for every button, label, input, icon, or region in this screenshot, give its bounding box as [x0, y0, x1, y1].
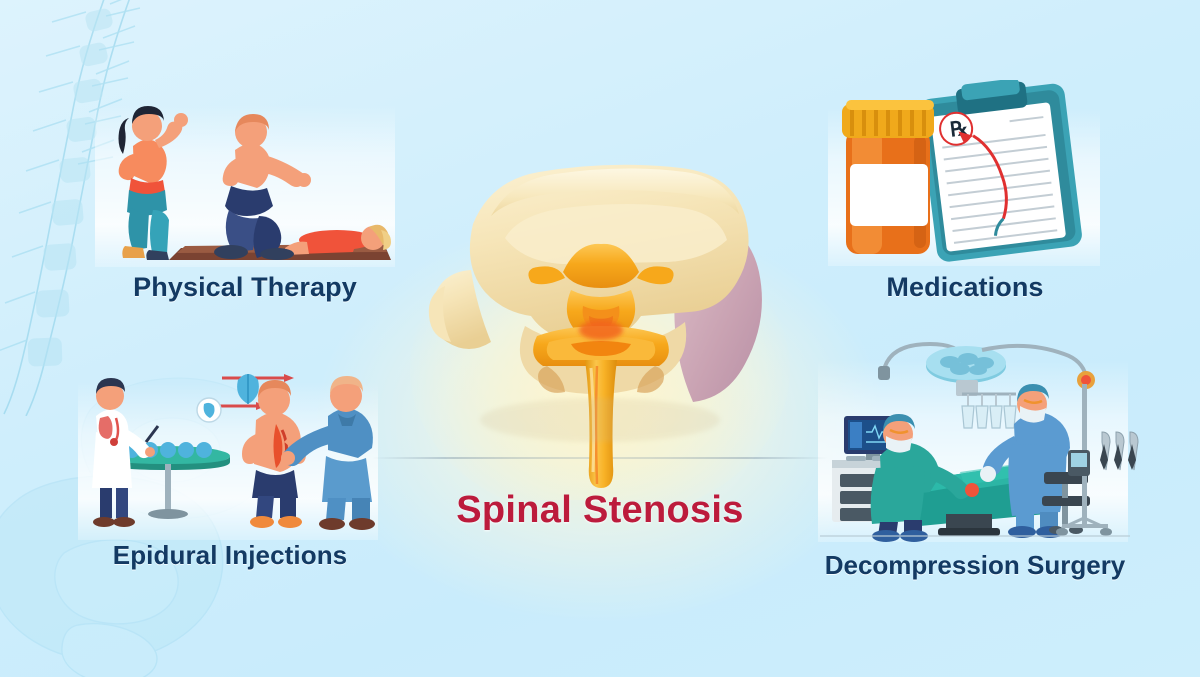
panel-label-decompression-surgery: Decompression Surgery — [810, 548, 1140, 582]
figure-therapist-woman — [119, 106, 189, 260]
surgical-lamp-icon — [878, 344, 1006, 396]
center-title: Spinal Stenosis — [456, 488, 743, 532]
medication-scene-icon: ℞ — [820, 80, 1110, 266]
operating-room-scene-icon — [810, 332, 1140, 544]
pill-bottle-icon — [842, 100, 934, 254]
panel-label-epidural-injections: Epidural Injections — [70, 538, 390, 572]
panel-label-medications: Medications — [820, 270, 1110, 304]
panel-medications[interactable]: ℞ Medicatio — [820, 80, 1110, 318]
vertebra-cross-section-icon — [385, 120, 815, 500]
center-feature: Spinal Stenosis — [350, 120, 850, 590]
figure-standing-man — [214, 114, 311, 260]
figure-doctor — [92, 378, 158, 527]
panel-decompression-surgery[interactable]: Decompression Surgery — [810, 332, 1140, 590]
surgical-instruments-icon — [1100, 432, 1138, 470]
syringe-icon — [237, 374, 259, 404]
panel-epidural-injections[interactable]: Epidural Injections — [70, 358, 390, 590]
vial-icon — [197, 398, 221, 422]
epidural-injection-scene-icon — [70, 358, 390, 534]
infographic-canvas: Physical Therapy — [0, 0, 1200, 677]
prescription-clipboard-icon: ℞ — [917, 80, 1083, 263]
